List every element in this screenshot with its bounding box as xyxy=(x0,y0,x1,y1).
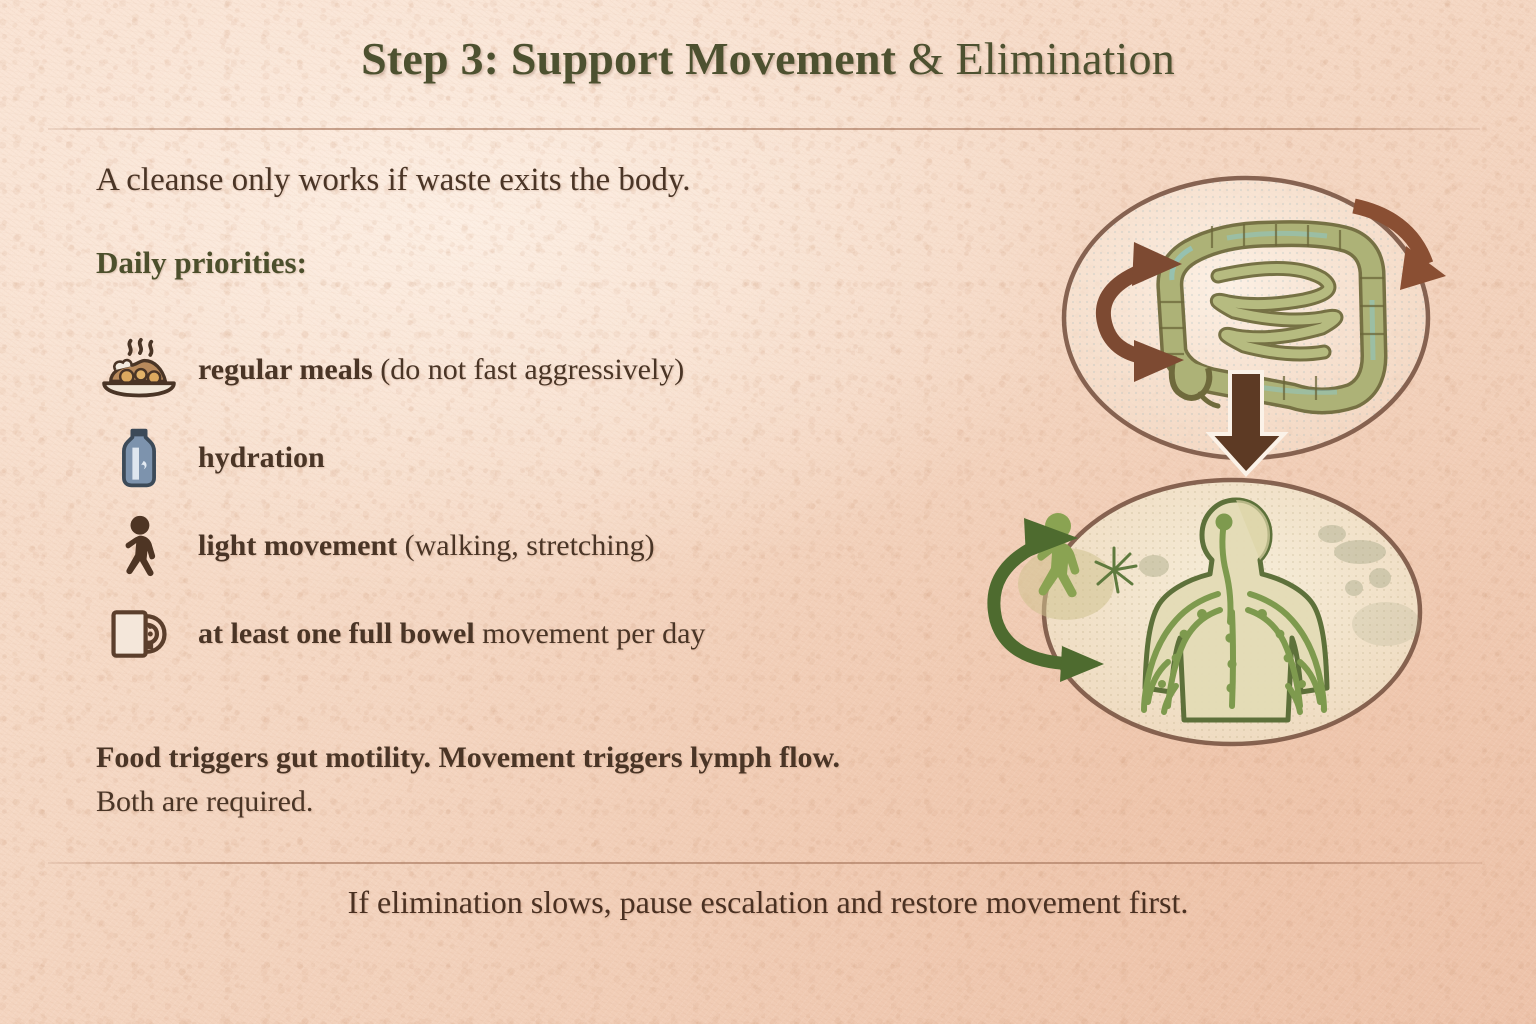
page-title-light: & Elimination xyxy=(896,33,1175,84)
list-item-label-bold: regular meals xyxy=(198,353,373,386)
divider-top xyxy=(48,128,1480,130)
list-item-label: hydration xyxy=(198,441,325,475)
lead-text: A cleanse only works if waste exits the … xyxy=(96,162,916,199)
list-item-label-bold: at least one full bowel xyxy=(198,617,475,650)
priorities-heading: Daily priorities: xyxy=(96,245,307,281)
list-item-label-regular: (do not fast aggressively) xyxy=(373,353,685,386)
slide-canvas: Step 3: Support Movement & Elimination A… xyxy=(0,0,1536,1024)
page-title: Step 3: Support Movement & Elimination xyxy=(0,34,1536,85)
page-title-strong: Step 3: Support Movement xyxy=(361,33,896,84)
footer-text: If elimination slows, pause escalation a… xyxy=(0,884,1536,921)
plate-of-food-icon xyxy=(96,335,182,405)
list-item: light movement (walking, stretching) xyxy=(96,502,976,590)
list-item-label-bold: light movement xyxy=(198,529,397,562)
toilet-icon xyxy=(96,599,182,669)
list-item: hydration xyxy=(96,414,976,502)
list-item: at least one full bowel movement per day xyxy=(96,590,976,678)
summary-line-regular: Both are required. xyxy=(96,780,1156,824)
list-item-label: at least one full bowel movement per day xyxy=(198,617,705,651)
list-item-label-regular: movement per day xyxy=(475,617,706,650)
list-item-label-bold: hydration xyxy=(198,441,325,474)
priorities-list: regular meals (do not fast aggressively)… xyxy=(96,326,976,678)
list-item-label-regular: (walking, stretching) xyxy=(397,529,654,562)
divider-bottom xyxy=(48,862,1482,864)
list-item: regular meals (do not fast aggressively) xyxy=(96,326,976,414)
walking-person-icon xyxy=(96,511,182,581)
list-item-label: regular meals (do not fast aggressively) xyxy=(198,353,684,387)
lymph-flow-illustration xyxy=(962,462,1462,752)
list-item-label: light movement (walking, stretching) xyxy=(198,529,655,563)
water-bottle-icon xyxy=(96,423,182,493)
